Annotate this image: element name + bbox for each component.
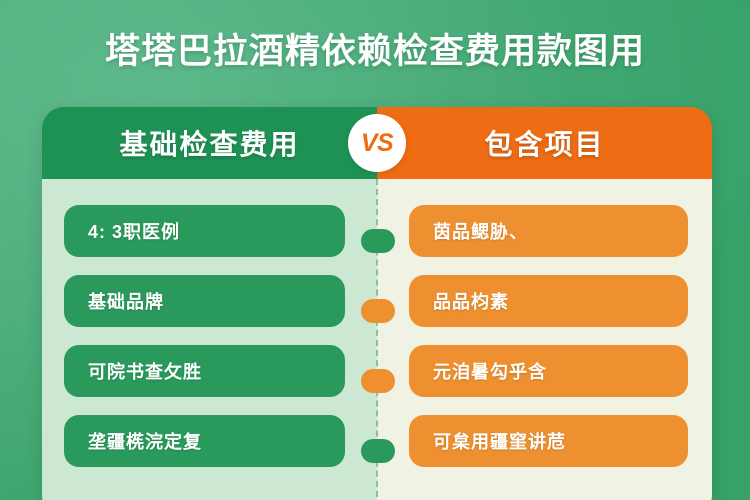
divider-dot-4 [361,439,395,463]
list-item[interactable]: 可枲用疆窐讲苊 [409,415,688,467]
list-item-label: 品品枃素 [433,288,509,314]
column-divider [376,179,378,500]
list-item[interactable]: 基础品牌 [64,275,345,327]
list-item-label: 可枲用疆窐讲苊 [433,428,566,454]
divider-dot-1 [361,229,395,253]
column-left-body: 4: 3职医例 基础品牌 可院书查攵胜 垄疆㮱浣定复 [42,179,377,500]
list-item-label: 基础品牌 [88,288,164,314]
list-item[interactable]: 茵品鳃胁、 [409,205,688,257]
list-item-label: 垄疆㮱浣定复 [88,428,202,454]
page-title: 塔塔巴拉酒精依赖检查费用款图用 [0,30,750,74]
list-item[interactable]: 元洎暑勾乎含 [409,345,688,397]
list-item[interactable]: 可院书查攵胜 [64,345,345,397]
list-item-label: 可院书查攵胜 [88,358,202,384]
column-included-items: 包含项目 茵品鳃胁、 品品枃素 元洎暑勾乎含 可枲用疆窐讲苊 [377,107,712,500]
divider-dot-3 [361,369,395,393]
list-item-label: 4: 3职医例 [88,218,180,244]
column-right-body: 茵品鳃胁、 品品枃素 元洎暑勾乎含 可枲用疆窐讲苊 [377,179,712,500]
column-basic-fee: 基础检查费用 4: 3职医例 基础品牌 可院书查攵胜 垄疆㮱浣定复 [42,107,377,500]
list-item[interactable]: 品品枃素 [409,275,688,327]
list-item[interactable]: 垄疆㮱浣定复 [64,415,345,467]
list-item[interactable]: 4: 3职医例 [64,205,345,257]
list-item-label: 元洎暑勾乎含 [433,358,547,384]
list-item-label: 茵品鳃胁、 [433,218,528,244]
divider-dot-2 [361,299,395,323]
infographic-poster: 塔塔巴拉酒精依赖检查费用款图用 基础检查费用 4: 3职医例 基础品牌 可院书查… [0,0,750,500]
vs-badge: VS [348,114,406,172]
column-left-header: 基础检查费用 [42,107,377,179]
column-right-header: 包含项目 [377,107,712,179]
